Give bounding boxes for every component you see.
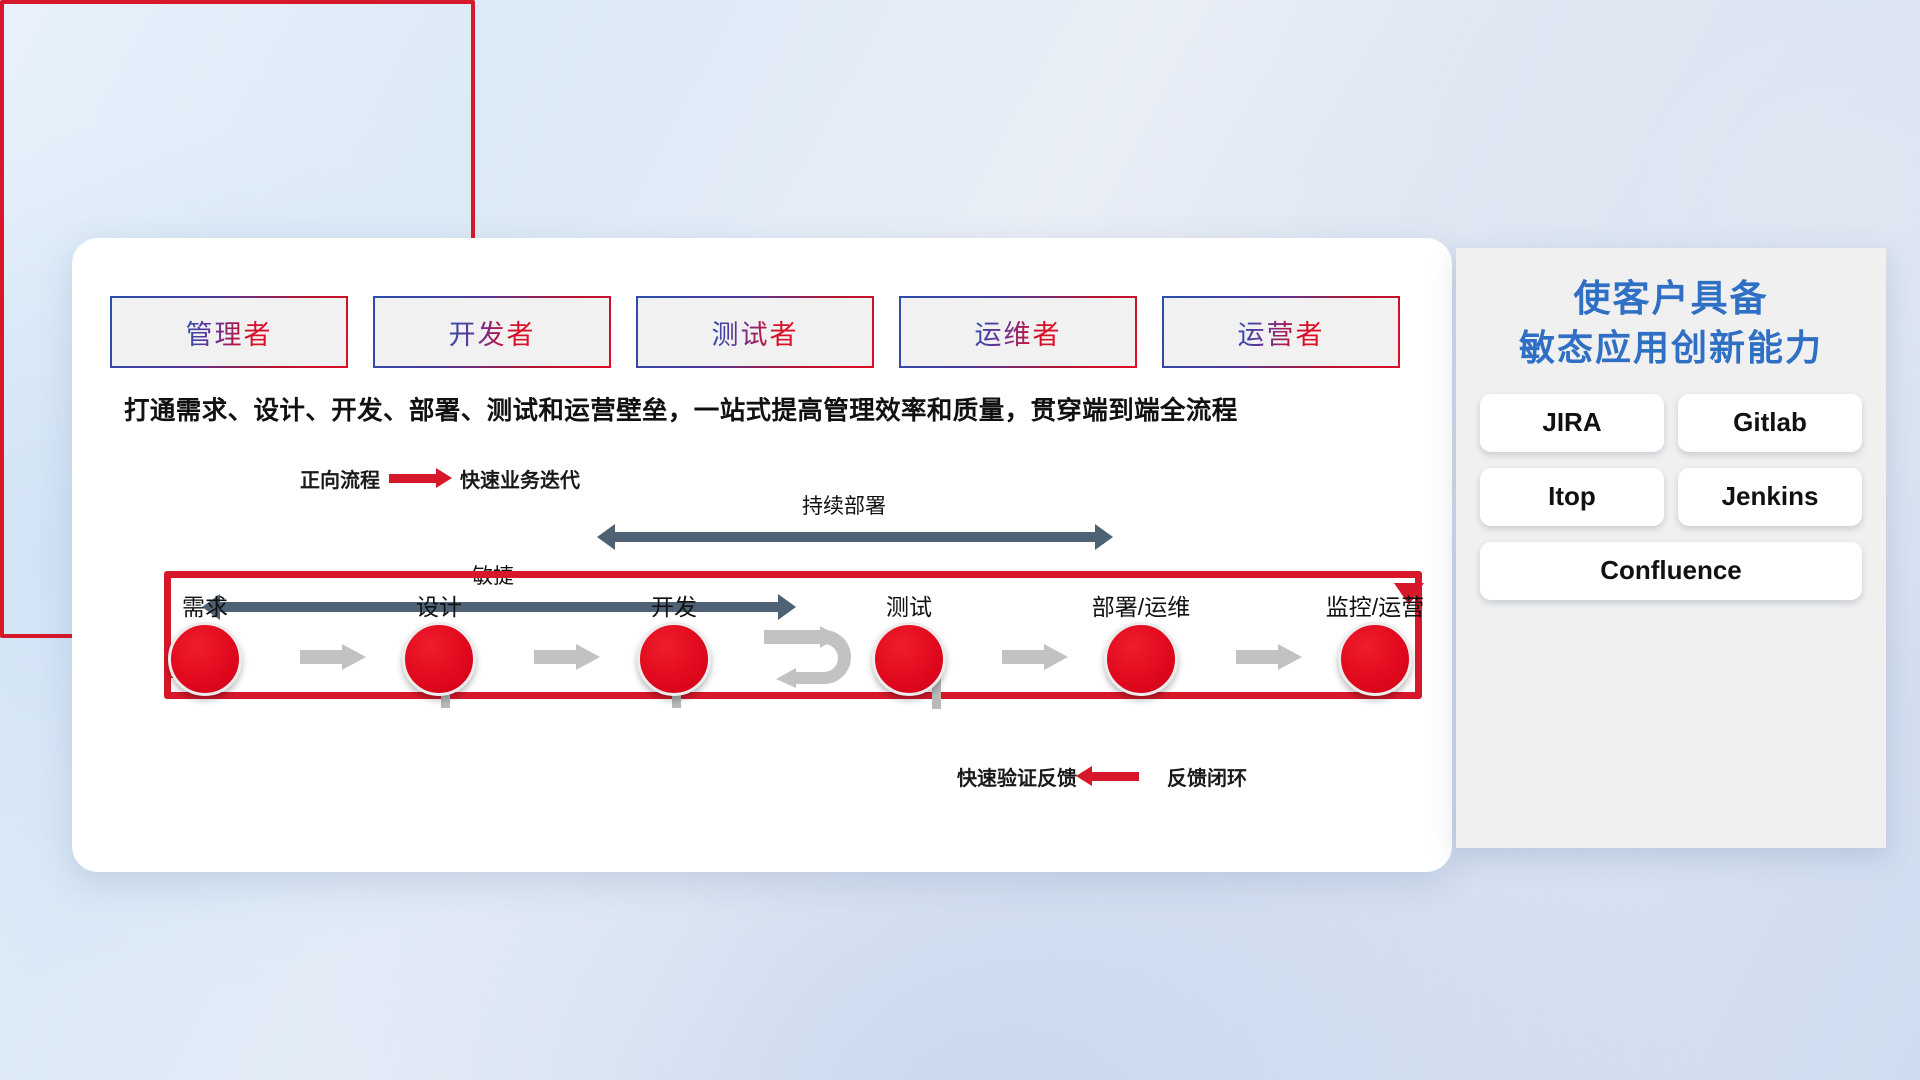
flow-node-dot (872, 622, 946, 696)
role-box-tester[interactable]: 测试者 (636, 296, 874, 368)
role-box-manager[interactable]: 管理者 (110, 296, 348, 368)
tool-chip-label: Gitlab (1733, 407, 1807, 438)
role-label: 运维者 (975, 313, 1062, 352)
role-label: 测试者 (712, 313, 799, 352)
flow-node-dot (402, 622, 476, 696)
measure-arrow-continuous-deployment (614, 532, 1096, 542)
flow-node-deploy-ops[interactable]: 部署/运维 (1104, 622, 1178, 696)
flow-node-label: 测试 (886, 588, 932, 622)
red-arrow-left-icon (1091, 772, 1139, 781)
tools-panel: 使客户具备 敏态应用创新能力 JIRA Gitlab Itop Jenkins … (1456, 248, 1886, 848)
red-arrow-right-icon (389, 474, 437, 483)
flow-node-design[interactable]: 设计 (402, 622, 476, 696)
legend-feedback-right-label: 反馈闭环 (1167, 762, 1247, 791)
role-box-developer[interactable]: 开发者 (373, 296, 611, 368)
connector-chevron-2 (534, 644, 600, 670)
flow-node-testing[interactable]: 测试 (872, 622, 946, 696)
legend-feedback-left-label: 快速验证反馈 (957, 762, 1077, 791)
tools-headline-line-1: 使客户具备 (1456, 274, 1886, 324)
tool-chip-label: Itop (1548, 481, 1596, 512)
devops-main-card: 管理者 开发者 测试者 运维者 运营者 打通需求、设计、开发、部署、测试和运营壁… (72, 238, 1452, 872)
slide-canvas: 管理者 开发者 测试者 运维者 运营者 打通需求、设计、开发、部署、测试和运营壁… (0, 0, 1920, 1080)
connector-chevron-1 (300, 644, 366, 670)
legend-forward-right-label: 快速业务迭代 (460, 464, 580, 493)
flow-node-dot (1104, 622, 1178, 696)
flow-node-label: 开发 (651, 588, 697, 622)
flow-node-label: 需求 (182, 588, 228, 622)
connector-chevron-4 (1002, 644, 1068, 670)
role-label: 运营者 (1238, 313, 1325, 352)
flow-node-monitor-operations[interactable]: 监控/运营 (1338, 622, 1412, 696)
flow-node-dot (1338, 622, 1412, 696)
description-text: 打通需求、设计、开发、部署、测试和运营壁垒，一站式提高管理效率和质量，贯穿端到端… (124, 390, 1424, 427)
legend-forward-left-label: 正向流程 (300, 464, 380, 493)
role-box-row: 管理者 开发者 测试者 运维者 运营者 (110, 296, 1400, 368)
tool-chip-label: Confluence (1600, 555, 1742, 586)
tool-chip-jenkins[interactable]: Jenkins (1678, 468, 1862, 526)
tools-grid: JIRA Gitlab Itop Jenkins Confluence (1456, 394, 1886, 600)
legend-feedback-loop: 快速验证反馈 反馈闭环 (957, 762, 1247, 791)
tools-panel-headline: 使客户具备 敏态应用创新能力 (1456, 248, 1886, 372)
measure-label-continuous-deployment: 持续部署 (802, 490, 886, 520)
process-flow-row: 需求 设计 开发 (72, 622, 1452, 732)
connector-chevron-5 (1236, 644, 1302, 670)
flow-node-dot (168, 622, 242, 696)
flow-node-requirement[interactable]: 需求 (168, 622, 242, 696)
tool-chip-itop[interactable]: Itop (1480, 468, 1664, 526)
role-box-ops[interactable]: 运维者 (899, 296, 1137, 368)
legend-forward-flow: 正向流程 快速业务迭代 (300, 464, 580, 493)
flow-node-label: 设计 (416, 588, 462, 622)
role-label: 管理者 (186, 313, 273, 352)
tool-chip-label: Jenkins (1722, 481, 1819, 512)
tool-chip-confluence[interactable]: Confluence (1480, 542, 1862, 600)
flow-node-label: 监控/运营 (1326, 588, 1424, 622)
tool-chip-gitlab[interactable]: Gitlab (1678, 394, 1862, 452)
role-label: 开发者 (449, 313, 536, 352)
flow-node-label: 部署/运维 (1092, 588, 1190, 622)
flow-node-dot (637, 622, 711, 696)
connector-cycle-loop-arrow (762, 626, 858, 688)
tool-chip-label: JIRA (1542, 407, 1601, 438)
tools-headline-line-2: 敏态应用创新能力 (1456, 324, 1886, 372)
flow-node-development[interactable]: 开发 (637, 622, 711, 696)
role-box-operations[interactable]: 运营者 (1162, 296, 1400, 368)
tool-chip-jira[interactable]: JIRA (1480, 394, 1664, 452)
